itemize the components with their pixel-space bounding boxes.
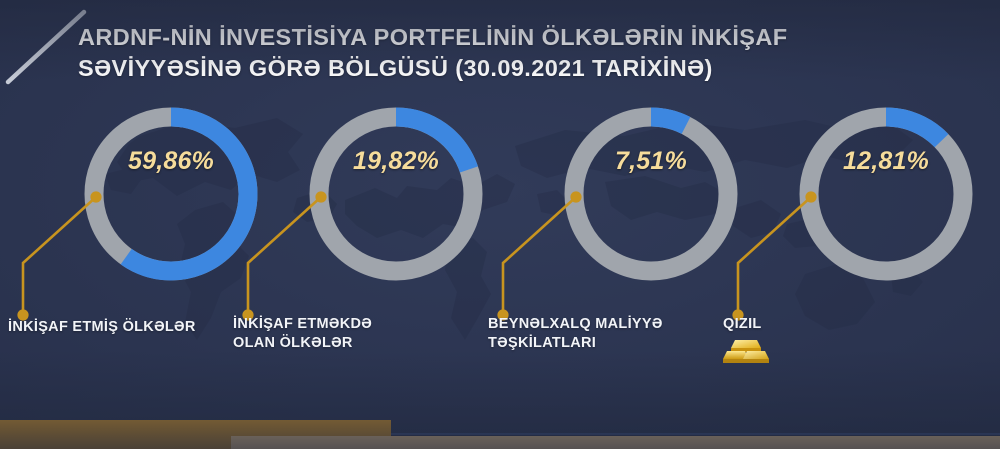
- donut-chart-4-svg: [795, 103, 977, 285]
- donut-percent-2: 19,82%: [305, 147, 487, 176]
- donut-label-2: İNKİŞAF ETMƏKDƏ OLAN ÖLKƏLƏR: [233, 315, 483, 354]
- bottom-bar-tan: [231, 436, 1000, 449]
- donut-card-2: 19,82% İNKİŞAF ETMƏKDƏ OLAN ÖLKƏLƏR: [305, 103, 487, 285]
- donut-card-4: 12,81% QIZIL: [795, 103, 977, 285]
- donut-percent-3: 7,51%: [560, 147, 742, 176]
- donut-percent-1: 59,86%: [80, 147, 262, 176]
- donut-chart-2-svg: [305, 103, 487, 285]
- donut-track-3: [574, 117, 728, 271]
- donut-chart-4: 12,81%: [795, 103, 977, 285]
- infographic-canvas: ARDNF-NİN İNVESTİSİYA PORTFELİNİN ÖLKƏLƏ…: [0, 0, 1000, 449]
- donut-label-4: QIZIL: [723, 315, 883, 334]
- donut-chart-2: 19,82%: [305, 103, 487, 285]
- donut-chart-3: 7,51%: [560, 103, 742, 285]
- donut-card-3: 7,51% BEYNƏLXALQ MALİYYƏ TƏŞKİLATLARI: [560, 103, 742, 285]
- donut-chart-1-svg: [80, 103, 262, 285]
- donut-label-3: BEYNƏLXALQ MALİYYƏ TƏŞKİLATLARI: [488, 315, 738, 354]
- donut-chart-3-svg: [560, 103, 742, 285]
- donut-percent-4: 12,81%: [795, 147, 977, 176]
- page-title: ARDNF-NİN İNVESTİSİYA PORTFELİNİN ÖLKƏLƏ…: [78, 22, 918, 85]
- gold-bars-icon: [723, 336, 769, 366]
- donut-label-1: İNKİŞAF ETMİŞ ÖLKƏLƏR: [8, 318, 248, 337]
- donut-card-1: 59,86% İNKİŞAF ETMİŞ ÖLKƏLƏR: [80, 103, 262, 285]
- bottom-hairline: [391, 433, 1000, 435]
- donut-chart-1: 59,86%: [80, 103, 262, 285]
